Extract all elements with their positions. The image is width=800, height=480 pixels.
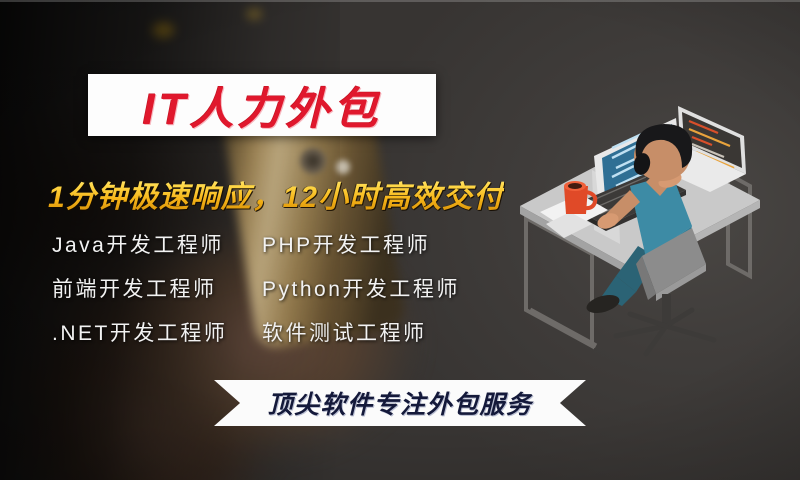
bottom-ribbon: 顶尖软件专注外包服务 [214,380,586,426]
job-item: .NET开发工程师 [52,317,262,347]
developer-at-desk-illustration [496,78,796,368]
subtitle-tagline: 1分钟极速响应，12小时高效交付 [48,172,504,216]
page-title: IT人力外包 [142,73,381,137]
job-title-list: Java开发工程师 PHP开发工程师 前端开发工程师 Python开发工程师 .… [52,222,502,354]
ribbon-label: 顶尖软件专注外包服务 [214,380,586,426]
job-row: 前端开发工程师 Python开发工程师 [52,266,502,310]
job-row: .NET开发工程师 软件测试工程师 [52,310,502,354]
title-banner: IT人力外包 [88,74,436,136]
job-item: PHP开发工程师 [262,229,502,259]
job-item: Python开发工程师 [262,273,502,303]
job-row: Java开发工程师 PHP开发工程师 [52,222,502,266]
poster-canvas: IT人力外包 1分钟极速响应，12小时高效交付 Java开发工程师 PHP开发工… [0,0,800,480]
job-item: 前端开发工程师 [52,273,262,303]
job-item: Java开发工程师 [52,229,262,259]
top-edge-highlight [0,0,800,2]
job-item: 软件测试工程师 [262,317,502,347]
